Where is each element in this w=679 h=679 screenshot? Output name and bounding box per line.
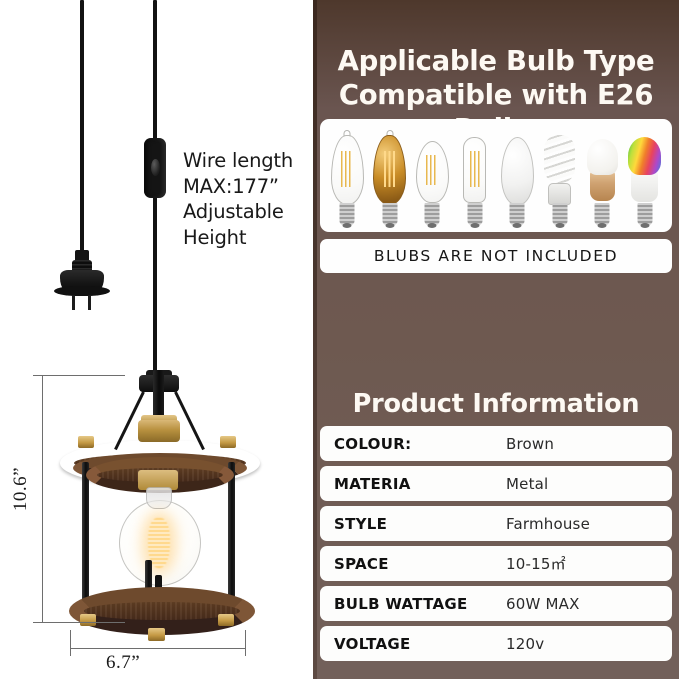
spec-label: STYLE: [334, 515, 506, 533]
brass-knob-bottom-right: [218, 614, 234, 626]
table-row: VOLTAGE 120v: [320, 626, 672, 661]
brass-knob-bottom-center: [148, 628, 165, 641]
table-row: STYLE Farmhouse: [320, 506, 672, 541]
wire-callout-line-1: Wire length: [183, 148, 311, 174]
wire-callout-line-4: Height: [183, 225, 311, 251]
table-row: MATERIA Metal: [320, 466, 672, 501]
width-dimension-tick-right: [245, 630, 246, 656]
clear-st64-filament-bulb-icon: [329, 129, 366, 225]
plug-shoulder: [54, 286, 110, 296]
clear-tube-filament-bulb-icon: [456, 129, 493, 225]
product-information-table: COLOUR: Brown MATERIA Metal STYLE Farmho…: [320, 426, 672, 661]
height-dimension-label: 10.6”: [10, 454, 32, 524]
spec-value: 120v: [506, 635, 544, 653]
e26-base: [552, 203, 567, 225]
bulb-headline-line-1: Applicable Bulb Type: [319, 44, 673, 78]
e26-base: [340, 203, 355, 225]
amber-st64-vintage-bulb-icon: [371, 129, 408, 225]
bulbs-not-included-banner: BLUBS ARE NOT INCLUDED: [320, 239, 672, 273]
cage-bar-right: [228, 462, 235, 612]
cfl-ballast: [548, 183, 571, 205]
spec-value: 60W MAX: [506, 595, 580, 613]
e26-base: [382, 203, 397, 225]
clear-a19-filament-bulb-icon: [414, 129, 451, 225]
two-prong-plug: [54, 250, 110, 310]
height-dimension-tick-bottom: [33, 622, 125, 623]
compatible-bulbs-card: [320, 119, 672, 232]
bulbs-not-included-text: BLUBS ARE NOT INCLUDED: [374, 247, 618, 265]
rocker-button-icon: [151, 159, 160, 176]
product-information-title: Product Information: [319, 389, 673, 419]
globe-edison-bulb-neck: [146, 487, 172, 509]
plug-prong-right: [88, 295, 91, 310]
spec-label: VOLTAGE: [334, 635, 506, 653]
table-row: BULB WATTAGE 60W MAX: [320, 586, 672, 621]
spec-label: BULB WATTAGE: [334, 595, 506, 613]
power-cord-left: [80, 0, 84, 252]
cage-bar-left: [82, 462, 89, 612]
height-dimension-tick-top: [33, 375, 125, 376]
brass-collar: [138, 420, 180, 442]
width-dimension-tick-left: [70, 630, 71, 656]
wire-length-callout: Wire length MAX:177” Adjustable Height: [183, 148, 311, 251]
frosted-incandescent-bulb-icon: [499, 129, 536, 225]
bulb-filament: [384, 151, 396, 187]
cfl-spiral-tube: [544, 135, 575, 183]
spec-value: Farmhouse: [506, 515, 590, 533]
led-diffuser-dome: [587, 139, 618, 175]
bulb-filament: [341, 151, 353, 187]
info-panel: Applicable Bulb Type Compatible with E26…: [313, 0, 679, 679]
brass-knob-top-left: [78, 436, 94, 448]
rgb-diffuser-dome: [628, 137, 661, 175]
e26-base: [637, 203, 652, 225]
gold-led-bulb-icon: [584, 129, 621, 225]
e26-base: [510, 203, 525, 225]
e26-base: [595, 203, 610, 225]
plug-prong-left: [72, 295, 75, 310]
brass-knob-bottom-left: [80, 614, 96, 626]
bulb-filament: [470, 151, 480, 187]
product-photo-panel: Wire length MAX:177” Adjustable Height: [0, 0, 313, 679]
spec-label: MATERIA: [334, 475, 506, 493]
spec-value: Brown: [506, 435, 554, 453]
table-row: COLOUR: Brown: [320, 426, 672, 461]
power-cord-right-upper: [153, 0, 157, 140]
rgb-smart-bulb-icon: [626, 129, 663, 225]
table-row: SPACE 10-15㎡: [320, 546, 672, 581]
product-infographic: Wire length MAX:177” Adjustable Height: [0, 0, 679, 679]
power-cord-right-lower: [153, 197, 157, 377]
cfl-spiral-bulb-icon: [541, 129, 578, 225]
spec-value: 10-15㎡: [506, 553, 566, 574]
width-dimension-label: 6.7”: [106, 652, 140, 674]
wire-callout-line-3: Adjustable: [183, 199, 311, 225]
bulb-filament: [426, 155, 438, 185]
spec-value: Metal: [506, 475, 548, 493]
farmhouse-cage-pendant-light: [60, 370, 260, 655]
spec-label: SPACE: [334, 555, 506, 573]
spec-label: COLOUR:: [334, 435, 506, 453]
bulb-glass: [501, 137, 534, 205]
e26-base: [425, 203, 440, 225]
inline-rocker-switch: [144, 138, 166, 198]
width-dimension-line: [70, 648, 246, 649]
wire-callout-line-2: MAX:177”: [183, 174, 311, 200]
height-dimension-line: [42, 375, 43, 623]
e26-base: [467, 203, 482, 225]
brass-knob-top-right: [220, 436, 236, 448]
